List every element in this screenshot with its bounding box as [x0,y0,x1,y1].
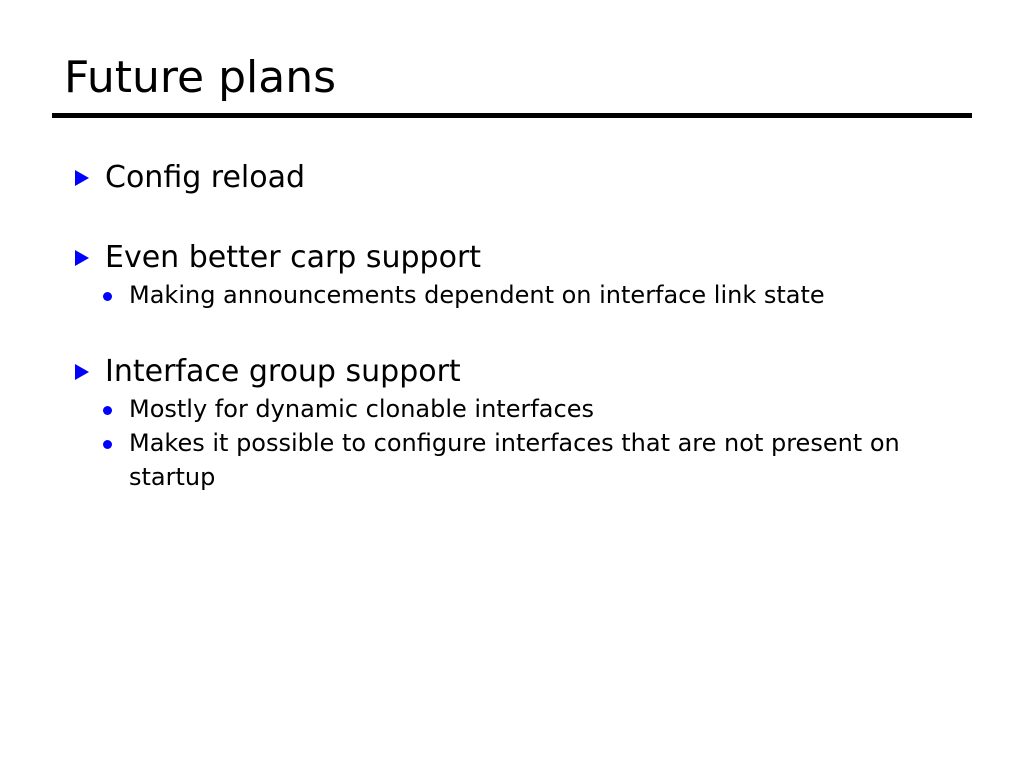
bullet-level1: Interface group support [75,352,975,392]
bullet-level2-label: Mostly for dynamic clonable interfaces [129,392,594,426]
bullet-level2-list: Making announcements dependent on interf… [75,278,975,312]
bullet-group: Even better carp support Making announce… [75,238,975,312]
group-spacer [75,312,975,352]
bullet-level1-label: Config reload [105,158,305,198]
title-divider [52,113,972,118]
bullet-level2-list: Mostly for dynamic clonable interfaces M… [75,392,975,494]
round-dot-bullet-icon [75,426,129,449]
triangle-right-bullet-icon [75,238,105,266]
page-title: Future plans [64,52,972,104]
bullet-group: Config reload [75,158,975,198]
triangle-right-bullet-icon [75,352,105,380]
bullet-group: Interface group support Mostly for dynam… [75,352,975,494]
bullet-level2-label: Making announcements dependent on interf… [129,278,825,312]
group-spacer [75,198,975,238]
bullet-level1: Even better carp support [75,238,975,278]
triangle-right-bullet-icon [75,158,105,186]
slide: Future plans Config reload Even better c… [0,0,1024,768]
title-block: Future plans [52,52,972,118]
bullet-content: Config reload Even better carp support M… [75,158,975,494]
round-dot-bullet-icon [75,278,129,301]
bullet-level2: Making announcements dependent on interf… [75,278,975,312]
bullet-level2-label: Makes it possible to configure interface… [129,426,935,494]
bullet-level1-label: Even better carp support [105,238,481,278]
round-dot-bullet-icon [75,392,129,415]
bullet-level2: Mostly for dynamic clonable interfaces [75,392,975,426]
bullet-level1: Config reload [75,158,975,198]
bullet-level1-label: Interface group support [105,352,461,392]
bullet-level2: Makes it possible to configure interface… [75,426,975,494]
